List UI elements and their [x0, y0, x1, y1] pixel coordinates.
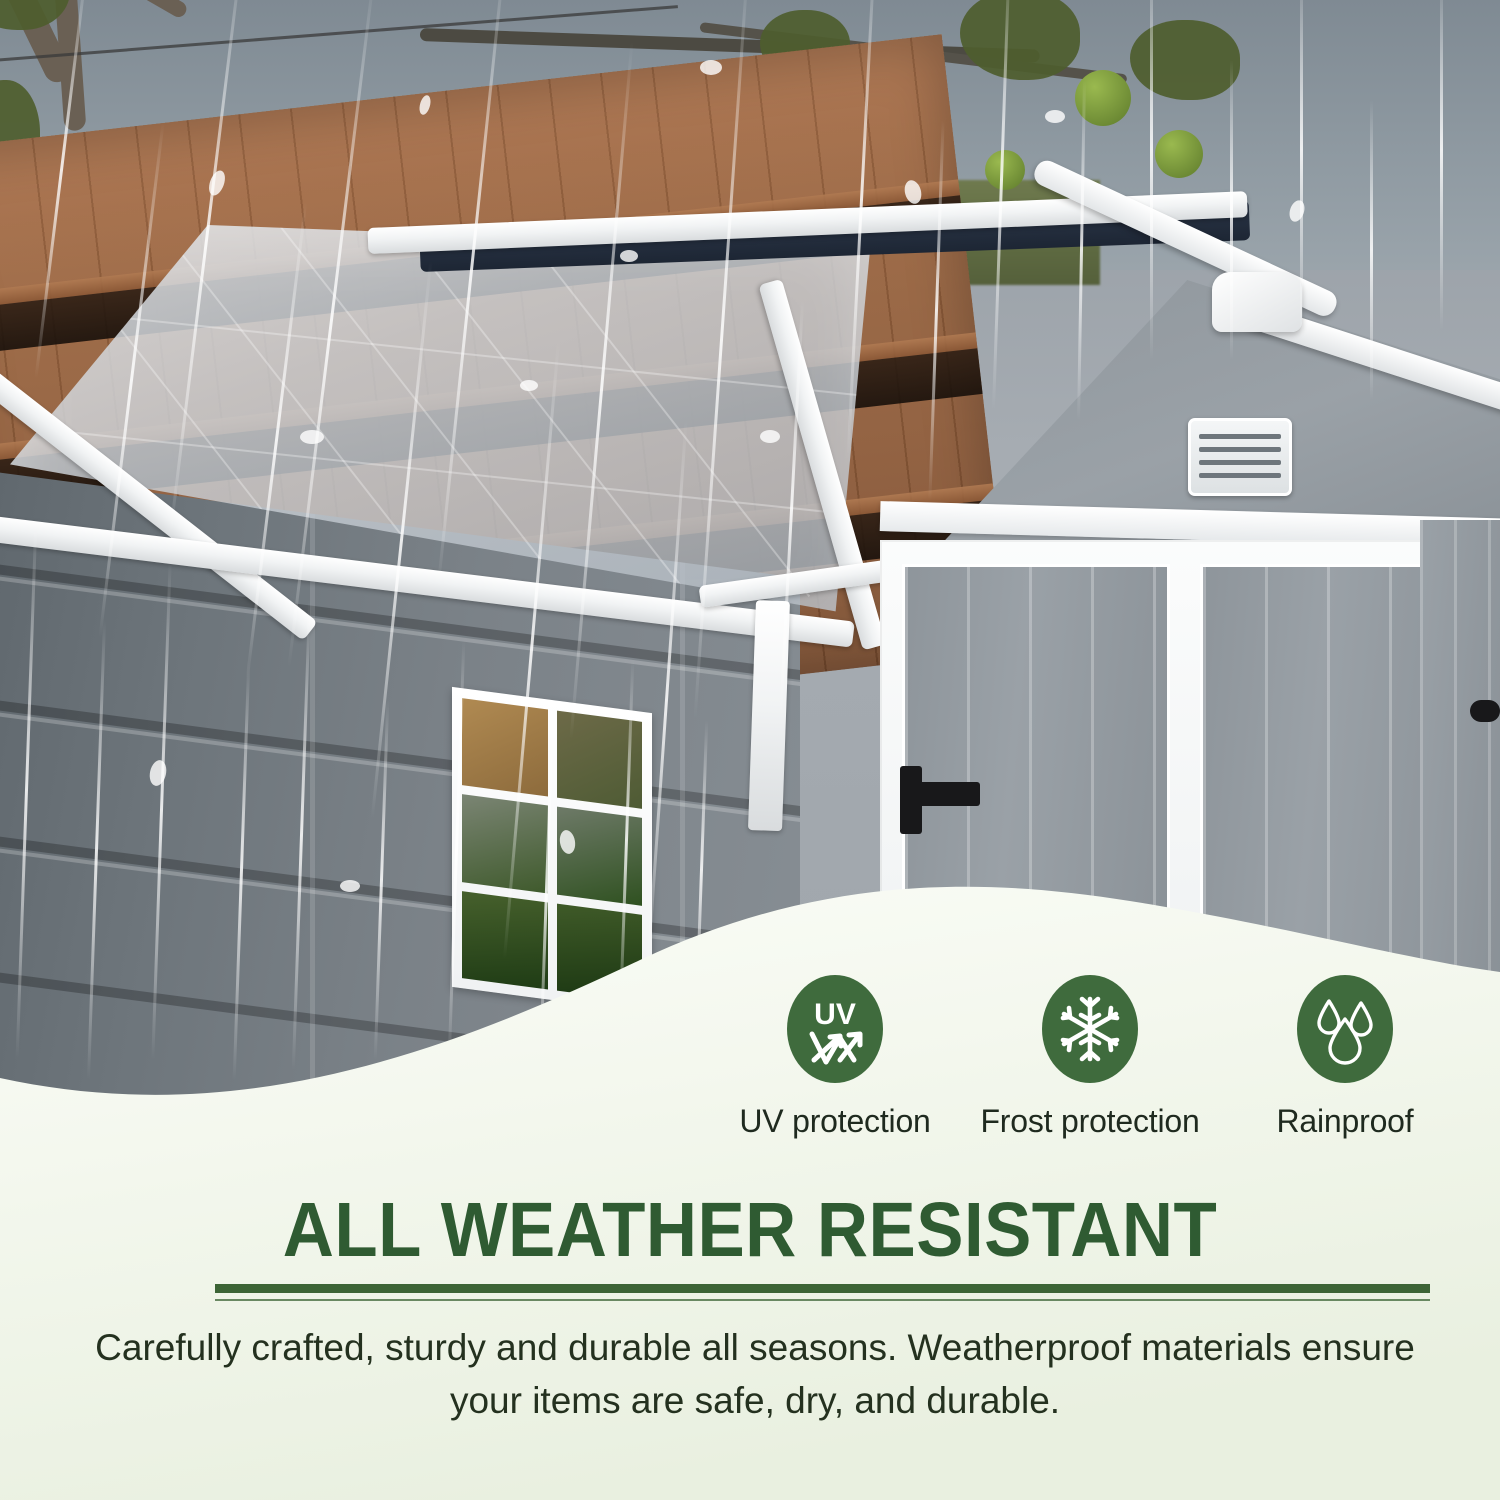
snowflake-icon	[1059, 994, 1121, 1064]
raindrops-icon	[1312, 993, 1378, 1065]
description-line-1: Carefully crafted, sturdy and durable al…	[95, 1327, 1291, 1368]
uv-icon: UV	[800, 990, 870, 1068]
feature-label: Rainproof	[1277, 1103, 1414, 1140]
divider	[215, 1284, 1430, 1301]
feature-uv: UV UV protection	[720, 975, 950, 1140]
product-marketing-image: UV UV protection	[0, 0, 1500, 1500]
feature-frost: Frost protection	[975, 975, 1205, 1140]
divider-thick	[215, 1284, 1430, 1293]
feature-list: UV UV protection	[720, 975, 1460, 1140]
uv-badge: UV	[787, 975, 883, 1083]
curved-content-panel	[0, 0, 1500, 1500]
feature-label: UV protection	[739, 1103, 930, 1140]
page-title: ALL WEATHER RESISTANT	[60, 1186, 1440, 1275]
frost-badge	[1042, 975, 1138, 1083]
rain-badge	[1297, 975, 1393, 1083]
divider-thin	[215, 1299, 1430, 1301]
feature-label: Frost protection	[980, 1103, 1199, 1140]
feature-rain: Rainproof	[1230, 975, 1460, 1140]
svg-text:UV: UV	[814, 998, 856, 1031]
description: Carefully crafted, sturdy and durable al…	[85, 1322, 1425, 1427]
